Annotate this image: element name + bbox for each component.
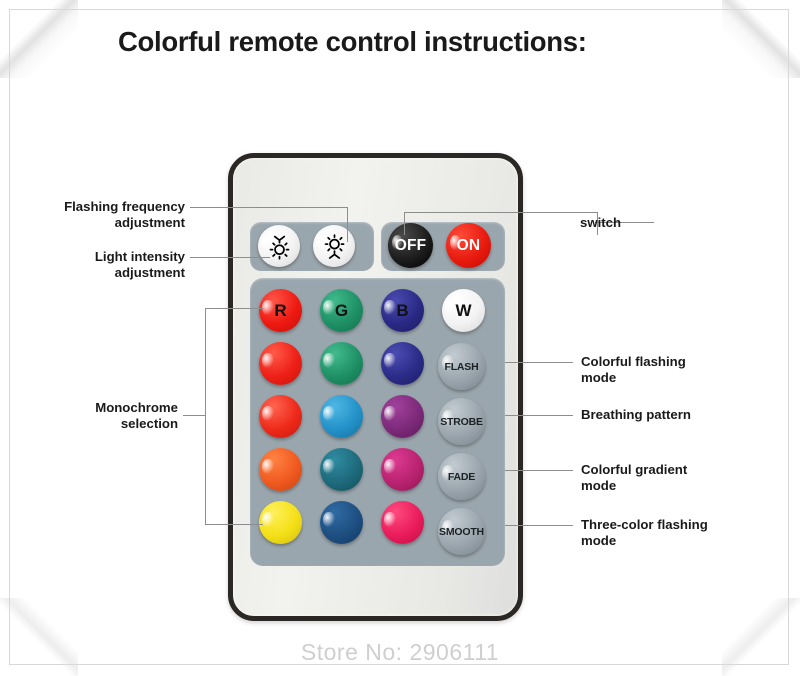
annotation-flash-line1: Colorful flashing [581,354,781,370]
mode-button-smooth[interactable]: SMOOTH [438,508,485,555]
annotation-monochrome-line1: Monochrome [50,400,178,416]
page-corner-fold-top-right [722,0,800,78]
page-corner-fold-top-left [0,0,78,78]
mode-button-smooth-label: SMOOTH [439,526,484,538]
color-swatch-r1c3[interactable] [381,342,424,385]
brightness-down-button[interactable] [258,225,300,267]
annotation-switch: switch [580,215,760,231]
color-button-red[interactable]: R [259,289,302,332]
leader-monochrome-horizontal [183,415,206,416]
annotation-smooth-line1: Three-color flashing [581,517,791,533]
remote-control-body: OFF ON R G B W [228,153,523,621]
annotation-light-intensity-line1: Light intensity [20,249,185,265]
instruction-poster: Colorful remote control instructions: [0,0,800,676]
annotation-monochrome-selection: Monochrome selection [50,400,178,431]
annotation-flashing-frequency: Flashing frequency adjustment [20,199,185,230]
page-title: Colorful remote control instructions: [118,26,718,58]
power-on-label: ON [457,237,481,255]
color-swatch-r2c1[interactable] [259,395,302,438]
annotation-flashing-frequency-line1: Flashing frequency [20,199,185,215]
power-off-label: OFF [395,237,427,255]
annotation-light-intensity: Light intensity adjustment [20,249,185,280]
annotation-flash-mode: Colorful flashing mode [581,354,781,385]
color-button-red-label: R [274,301,286,321]
mode-button-flash[interactable]: FLASH [438,343,485,390]
sun-dim-icon [266,232,293,261]
color-swatch-r4c2[interactable] [320,501,363,544]
annotation-strobe-mode: Breathing pattern [581,407,781,423]
color-button-blue-label: B [396,301,408,321]
color-button-white[interactable]: W [442,289,485,332]
color-swatch-r4c3[interactable] [381,501,424,544]
mode-button-fade[interactable]: FADE [438,453,485,500]
mode-button-strobe-label: STROBE [440,416,483,428]
color-swatch-r3c3[interactable] [381,448,424,491]
annotation-flashing-frequency-line2: adjustment [20,215,185,231]
color-button-green[interactable]: G [320,289,363,332]
mode-button-fade-label: FADE [448,471,475,483]
store-watermark: Store No: 2906111 [0,639,800,666]
annotation-fade-mode: Colorful gradient mode [581,462,781,493]
annotation-monochrome-line2: selection [50,416,178,432]
annotation-smooth-mode: Three-color flashing mode [581,517,791,548]
mode-button-flash-label: FLASH [445,361,479,373]
brightness-up-button[interactable] [313,225,355,267]
color-swatch-r1c2[interactable] [320,342,363,385]
color-swatch-r4c1[interactable] [259,501,302,544]
color-swatch-r1c1[interactable] [259,342,302,385]
color-swatch-r3c2[interactable] [320,448,363,491]
color-button-white-label: W [455,301,471,321]
color-swatch-r3c1[interactable] [259,448,302,491]
annotation-light-intensity-line2: adjustment [20,265,185,281]
color-button-blue[interactable]: B [381,289,424,332]
color-swatch-r2c2[interactable] [320,395,363,438]
power-off-button[interactable]: OFF [388,223,433,268]
power-on-button[interactable]: ON [446,223,491,268]
annotation-smooth-line2: mode [581,533,733,549]
sun-bright-icon [321,232,348,261]
mode-button-strobe[interactable]: STROBE [438,398,485,445]
annotation-fade-line2: mode [581,478,721,494]
annotation-flash-line2: mode [581,370,721,386]
color-swatch-r2c3[interactable] [381,395,424,438]
color-button-green-label: G [335,301,348,321]
annotation-fade-line1: Colorful gradient [581,462,781,478]
